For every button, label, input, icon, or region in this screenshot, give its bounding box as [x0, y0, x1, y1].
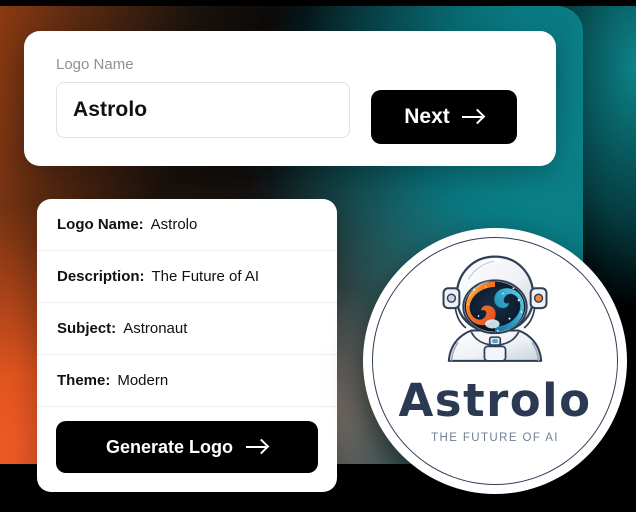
- logo-name-label: Logo Name: [56, 56, 134, 73]
- logo-name-form-card: Logo Name Astrolo Next: [24, 31, 556, 166]
- generate-logo-button-wrap: Generate Logo: [37, 407, 337, 473]
- row-value: Modern: [117, 372, 168, 389]
- logo-tagline: THE FUTURE OF AI: [431, 432, 559, 444]
- table-row: Description: The Future of AI: [37, 251, 337, 303]
- table-row: Subject: Astronaut: [37, 303, 337, 355]
- screenshot-root: Logo Name Astrolo Next Logo Name: Astrol…: [0, 0, 636, 512]
- row-key: Subject:: [57, 320, 116, 337]
- row-value: Astronaut: [123, 320, 187, 337]
- arrow-right-icon: [462, 109, 484, 125]
- badge-content: Astrolo THE FUTURE OF AI: [363, 228, 627, 494]
- row-key: Logo Name:: [57, 216, 144, 233]
- logo-name-input[interactable]: Astrolo: [56, 82, 350, 138]
- logo-preview-badge[interactable]: Astrolo THE FUTURE OF AI: [363, 228, 627, 494]
- next-button[interactable]: Next: [371, 90, 517, 144]
- next-button-label: Next: [404, 105, 450, 129]
- logo-details-card: Logo Name: Astrolo Description: The Futu…: [37, 199, 337, 492]
- table-row: Theme: Modern: [37, 355, 337, 407]
- astronaut-helmet-icon: [429, 250, 561, 382]
- row-key: Description:: [57, 268, 145, 285]
- generate-logo-button-label: Generate Logo: [106, 437, 233, 458]
- table-row: Logo Name: Astrolo: [37, 199, 337, 251]
- arrow-right-icon: [246, 439, 268, 455]
- row-value: Astrolo: [151, 216, 198, 233]
- row-value: The Future of AI: [152, 268, 260, 285]
- logo-wordmark: Astrolo: [398, 378, 591, 423]
- generate-logo-button[interactable]: Generate Logo: [56, 421, 318, 473]
- row-key: Theme:: [57, 372, 110, 389]
